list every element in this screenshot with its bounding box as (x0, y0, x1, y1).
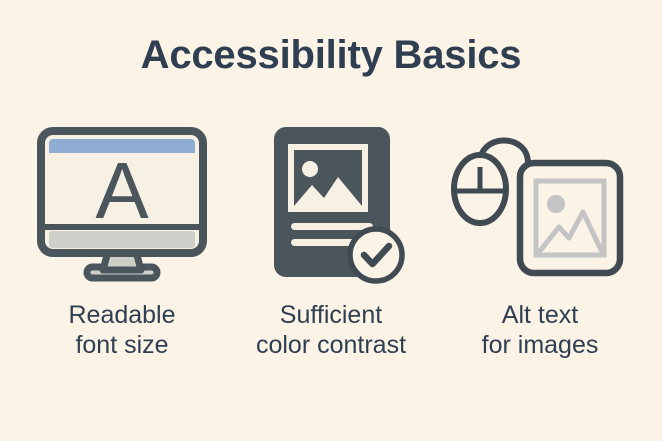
mouse-image-frame-icon (450, 115, 630, 295)
check-badge-circle (350, 229, 402, 281)
caption-line-1: Alt text (440, 300, 640, 330)
monitor-letter-a-icon-wrap: A (22, 110, 222, 300)
feature-card-alt-text: Alt text for images (440, 110, 640, 385)
feature-caption-alt-text: Alt text for images (440, 300, 640, 360)
caption-line-1: Readable (22, 300, 222, 330)
monitor-letter-glyph: A (95, 146, 149, 235)
document-image-check-icon-wrap (231, 110, 431, 300)
caption-line-2: for images (440, 330, 640, 360)
feature-card-color-contrast: Sufficient color contrast (231, 110, 431, 385)
caption-line-2: color contrast (231, 330, 431, 360)
document-image-check-icon (241, 115, 421, 295)
sun-shape (547, 195, 565, 213)
feature-caption-color-contrast: Sufficient color contrast (231, 300, 431, 360)
sun-shape (302, 161, 318, 177)
mouse-image-frame-icon-wrap (440, 110, 640, 300)
infographic-canvas: Accessibility Basics A Readable (0, 0, 662, 441)
caption-line-1: Sufficient (231, 300, 431, 330)
caption-line-2: font size (22, 330, 222, 360)
feature-caption-readable-font-size: Readable font size (22, 300, 222, 360)
document-text-line-1 (291, 223, 373, 230)
feature-card-readable-font-size: A Readable font size (22, 110, 222, 385)
page-title: Accessibility Basics (0, 33, 662, 78)
monitor-letter-a-icon: A (32, 115, 212, 295)
